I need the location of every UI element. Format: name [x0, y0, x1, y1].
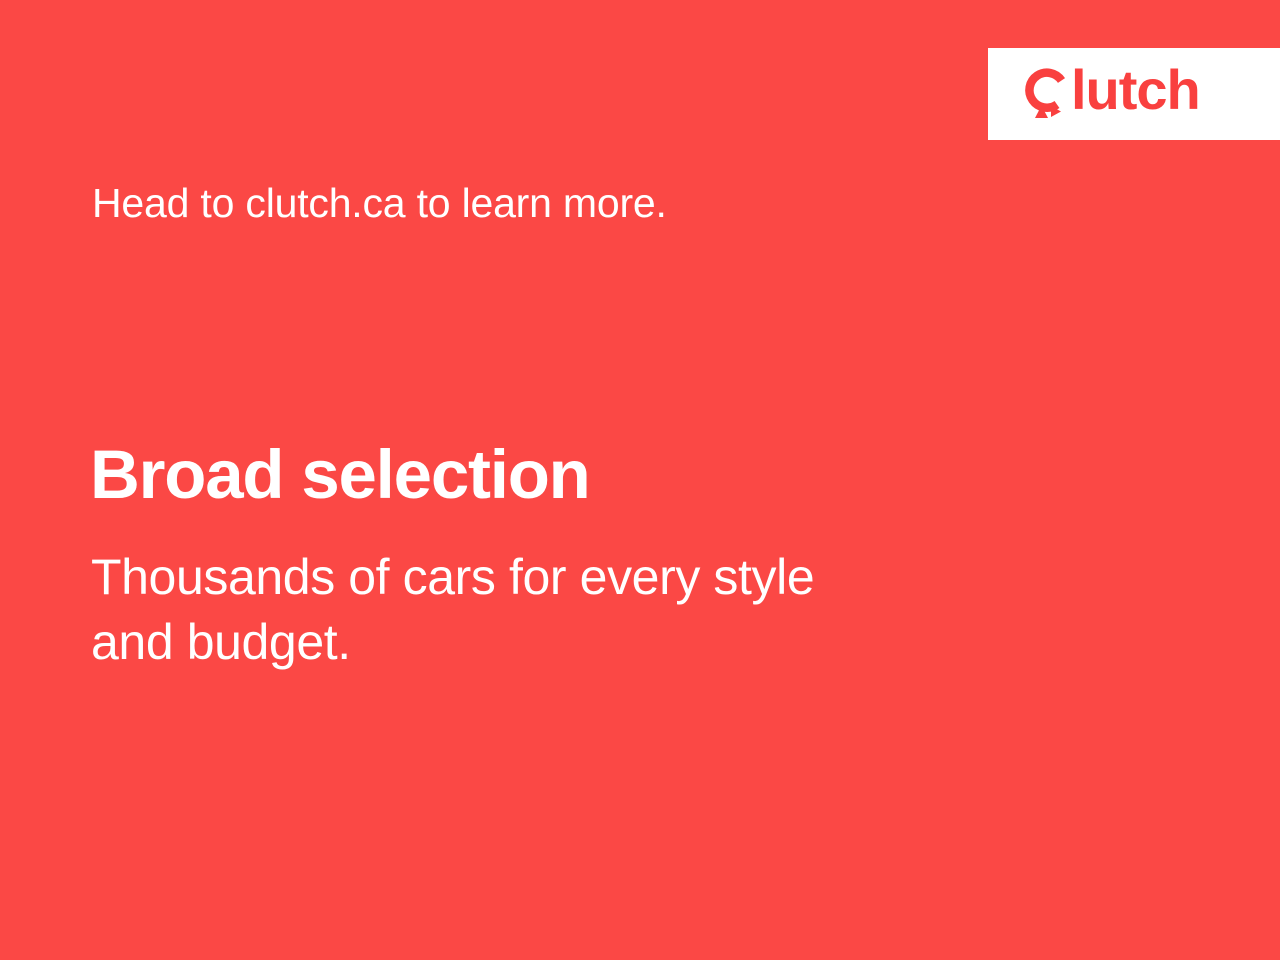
- subhead-block: Thousands of cars for every style and bu…: [91, 545, 1051, 675]
- clutch-logo-badge[interactable]: lutch: [988, 48, 1280, 140]
- headline-text: Broad selection: [90, 437, 590, 513]
- cta-eyebrow-text: Head to clutch.ca to learn more.: [92, 180, 667, 227]
- subhead-line-1: Thousands of cars for every style: [91, 545, 1051, 610]
- clutch-c-mark-icon: [1021, 66, 1069, 122]
- svg-text:lutch: lutch: [1071, 66, 1200, 121]
- subhead-line-2: and budget.: [91, 610, 1051, 675]
- clutch-logo-lockup: lutch: [1021, 63, 1271, 125]
- clutch-wordmark: lutch: [1071, 66, 1271, 122]
- slide-canvas: lutch Head to clutch.ca to learn more. B…: [0, 0, 1280, 960]
